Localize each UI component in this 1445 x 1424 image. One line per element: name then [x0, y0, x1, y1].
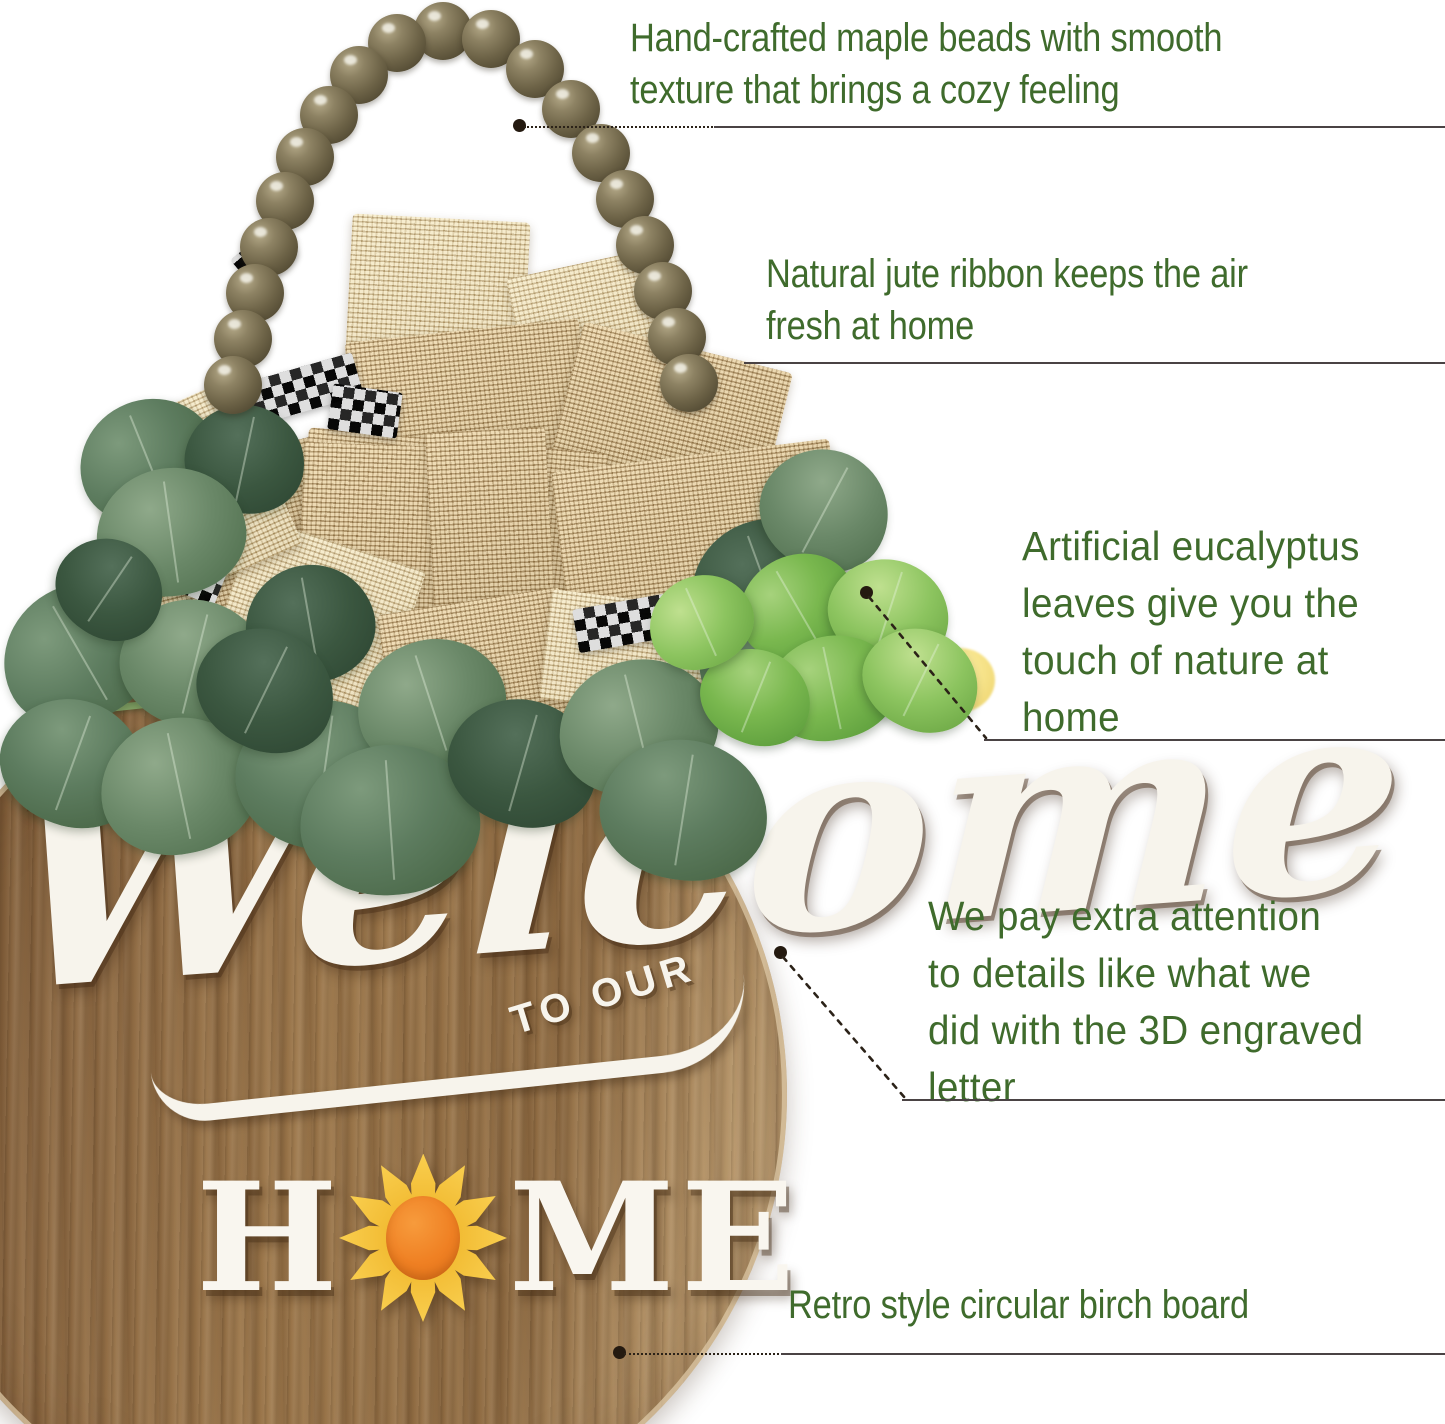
callout-engraved-letter: We pay extra attention to details like w… [928, 888, 1445, 1116]
callout-eucalyptus-line-3: touch of nature at [1022, 632, 1420, 689]
plaid-ribbon-accent [327, 383, 403, 438]
callout-jute-ribbon-line-1: Natural jute ribbon keeps the air [766, 248, 1350, 300]
callout-eucalyptus: Artificial eucalyptus leaves give you th… [1022, 518, 1445, 746]
callout-eucalyptus-line-4: home [1022, 689, 1420, 746]
callout-birch-board: Retro style circular birch board [788, 1279, 1445, 1331]
callout-eucalyptus-line-1: Artificial eucalyptus [1022, 518, 1420, 575]
callout-engraved-letter-line-3: did with the 3D engraved [928, 1002, 1414, 1059]
callout-beads: Hand-crafted maple beads with smooth tex… [630, 12, 1445, 116]
callout-eucalyptus-line-2: leaves give you the [1022, 575, 1420, 632]
callout-leader-dotted-birch-board [624, 1353, 783, 1355]
callout-jute-ribbon-line-2: fresh at home [766, 300, 1350, 352]
callout-anchor-engraved-letter [774, 946, 787, 959]
callout-leader-rule-engraved-letter [902, 1099, 1445, 1101]
callout-leader-dotted-beads [524, 126, 716, 128]
sunflower-icon [346, 1145, 501, 1330]
home-letter-m: M [509, 1163, 675, 1313]
home-letter-e: E [681, 1163, 795, 1313]
callout-beads-line-1: Hand-crafted maple beads with smooth [630, 12, 1331, 64]
callout-anchor-eucalyptus [860, 586, 873, 599]
callout-engraved-letter-line-1: We pay extra attention [928, 888, 1414, 945]
callout-leader-rule-beads [714, 126, 1445, 128]
callout-jute-ribbon: Natural jute ribbon keeps the air fresh … [766, 248, 1445, 352]
infographic-canvas: Welcome TO OUR H M E [0, 0, 1445, 1424]
callout-leader-rule-jute-ribbon [744, 362, 1445, 364]
callout-leader-rule-eucalyptus [984, 739, 1445, 741]
callout-leader-rule-birch-board [781, 1353, 1445, 1355]
home-letter-h: H [196, 1163, 338, 1313]
callout-beads-line-2: texture that brings a cozy feeling [630, 64, 1331, 116]
callout-engraved-letter-line-4: letter [928, 1059, 1414, 1116]
callout-engraved-letter-line-2: to details like what we [928, 945, 1414, 1002]
callout-birch-board-line-1: Retro style circular birch board [788, 1279, 1353, 1331]
home-word: H M E [196, 1145, 795, 1330]
sunflower-center [386, 1196, 460, 1280]
